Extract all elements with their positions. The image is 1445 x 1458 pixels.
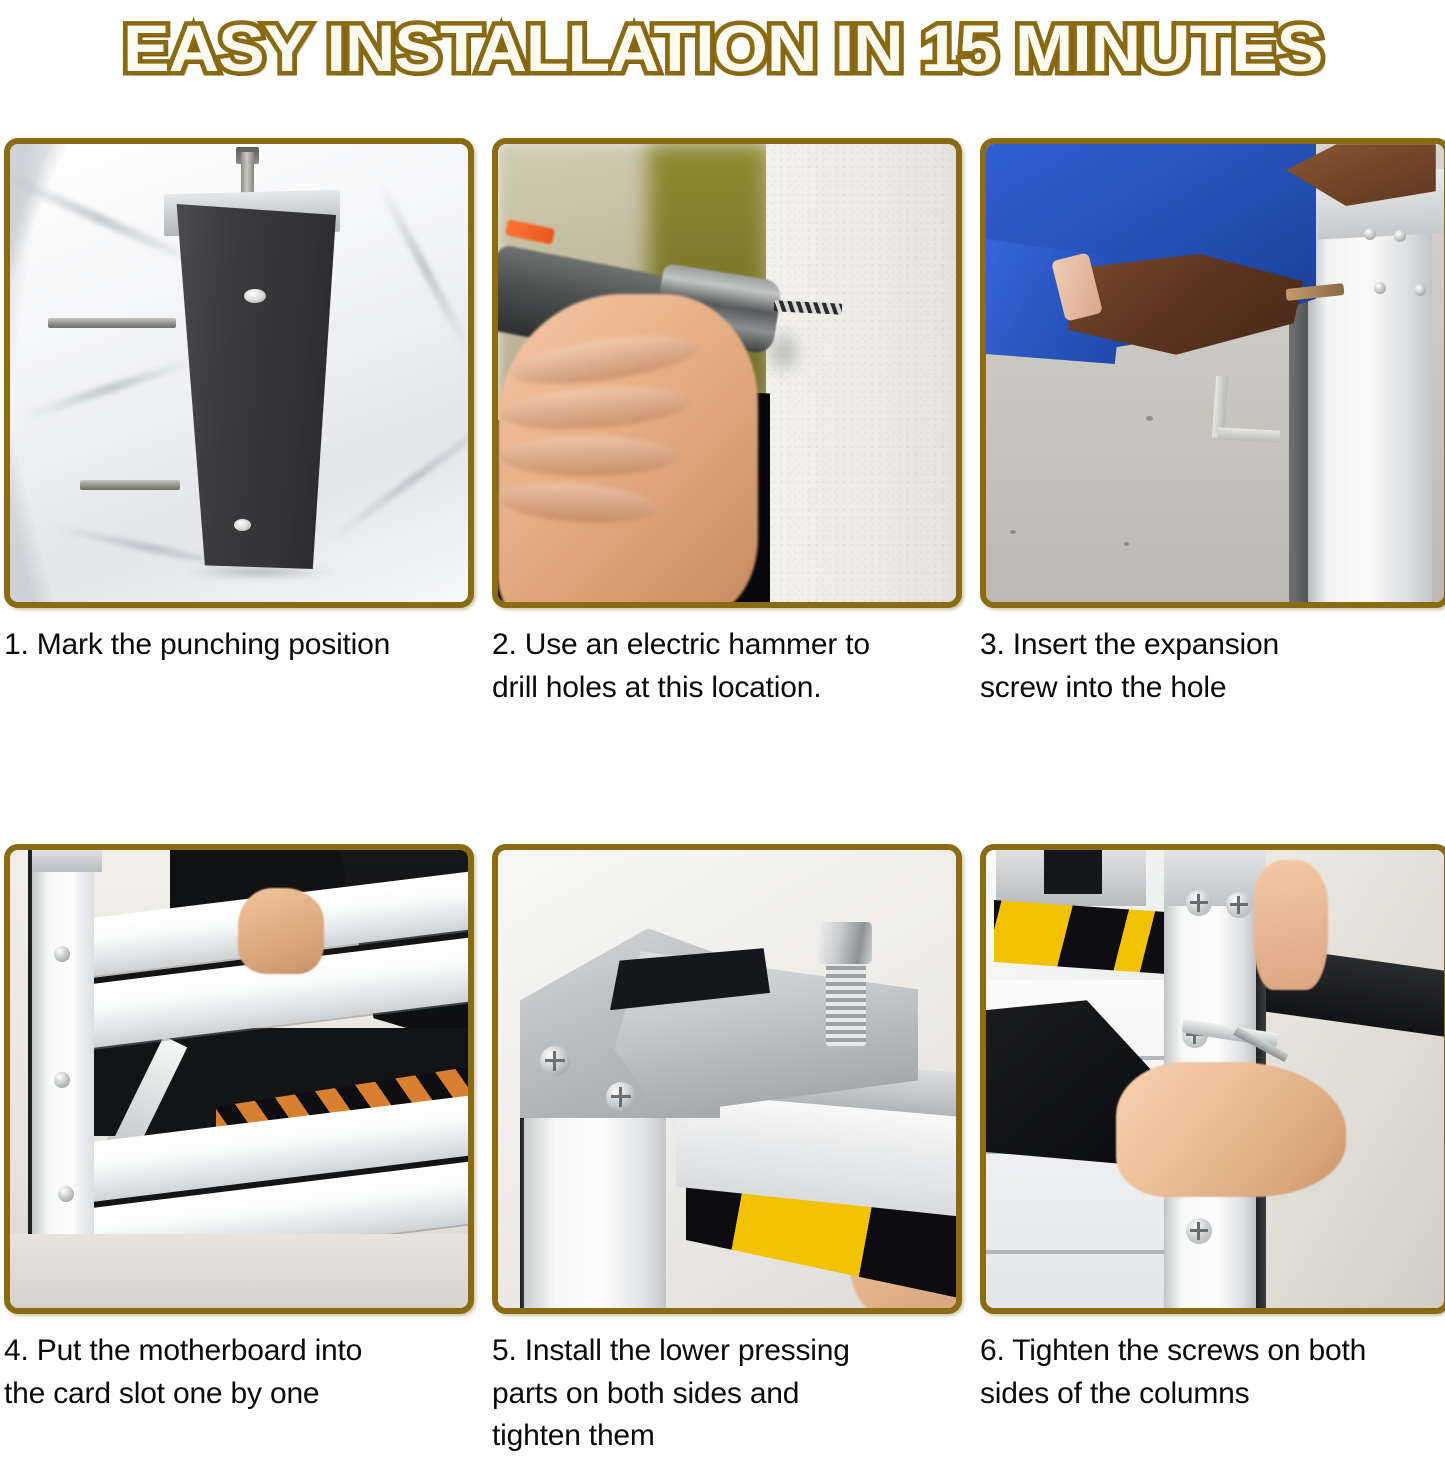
header-banner: EASY INSTALLATION IN 15 MINUTES <box>0 0 1445 96</box>
step-photo-2 <box>492 138 962 608</box>
installer-hand <box>1116 1062 1346 1197</box>
step-caption-5: 5. Install the lower pressing parts on b… <box>492 1330 962 1458</box>
drill-dust <box>760 324 806 380</box>
bracket-hole-lower <box>234 519 251 531</box>
floor-speck <box>1124 542 1129 546</box>
steps-row-bottom: 4. Put the motherboard into the card slo… <box>4 844 1441 1458</box>
finger <box>498 436 678 476</box>
column-screw <box>1394 230 1406 242</box>
steps-row-top: 1. Mark the punching position <box>4 138 1441 709</box>
step-card-2: 2. Use an electric hammer to drill holes… <box>492 138 962 709</box>
column-top-cap <box>1164 850 1266 906</box>
floor-speck <box>1010 530 1016 534</box>
board-seam <box>986 1250 1176 1254</box>
column-top-cap <box>32 850 102 872</box>
column-screw <box>1364 228 1376 240</box>
step-card-6: 6. Tighten the screws on both sides of t… <box>980 844 1445 1458</box>
step-photo-3 <box>980 138 1445 608</box>
bracket-hole-upper <box>244 289 266 303</box>
step-photo-4 <box>4 844 474 1314</box>
bracket-stud-lower <box>80 480 180 490</box>
page-title: EASY INSTALLATION IN 15 MINUTES <box>123 15 1322 81</box>
phillips-screw <box>606 1082 636 1112</box>
phillips-screw <box>540 1046 570 1076</box>
step-card-3: 3. Insert the expansion screw into the h… <box>980 138 1445 709</box>
step-caption-6: 6. Tighten the screws on both sides of t… <box>980 1330 1445 1415</box>
floor-surface <box>10 1234 468 1308</box>
bolt-head <box>818 922 872 964</box>
step-caption-1: 1. Mark the punching position <box>4 624 474 667</box>
step-caption-4: 4. Put the motherboard into the card slo… <box>4 1330 474 1415</box>
steps-grid: 1. Mark the punching position <box>4 138 1441 1458</box>
upper-dark-gap <box>1044 850 1102 894</box>
step-photo-1 <box>4 138 474 608</box>
column-screw <box>1186 1218 1212 1244</box>
installer-hand <box>238 888 324 974</box>
step-caption-3: 3. Insert the expansion screw into the h… <box>980 624 1445 709</box>
hazard-stripe-tape <box>994 900 1166 974</box>
step-caption-2: 2. Use an electric hammer to drill holes… <box>492 624 962 709</box>
step-card-5: 5. Install the lower pressing parts on b… <box>492 844 962 1458</box>
step-card-4: 4. Put the motherboard into the card slo… <box>4 844 474 1458</box>
threaded-bolt-shaft <box>826 954 866 1046</box>
step-card-1: 1. Mark the punching position <box>4 138 474 709</box>
column-screw <box>1186 890 1212 916</box>
column-screw <box>1374 282 1386 294</box>
step-photo-6 <box>980 844 1445 1314</box>
floor-speck <box>1146 416 1153 421</box>
bracket-stud-upper <box>48 318 176 328</box>
column-screw <box>1226 892 1252 918</box>
second-hand <box>1254 860 1328 990</box>
column-screw <box>1414 284 1426 296</box>
step-photo-5 <box>492 844 962 1314</box>
